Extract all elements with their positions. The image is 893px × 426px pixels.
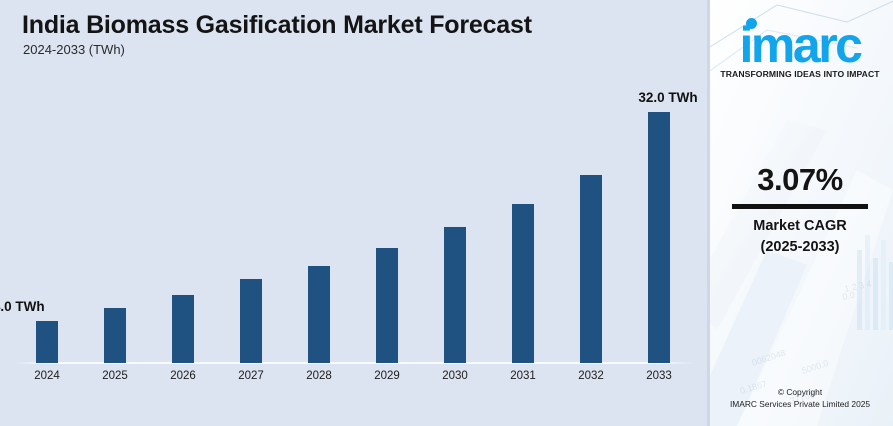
bar-2033[interactable] [648, 112, 670, 363]
x-tick-label-2026: 2026 [149, 370, 217, 382]
x-tick-label-2033: 2033 [625, 370, 693, 382]
bar-group: 2024 [13, 0, 81, 426]
x-tick-label-2028: 2028 [285, 370, 353, 382]
bar-2032[interactable] [580, 175, 602, 363]
bar-group: 2031 [489, 0, 557, 426]
x-tick-label-2029: 2029 [353, 370, 421, 382]
logo-text: imarc [740, 17, 861, 73]
bar-2025[interactable] [104, 308, 126, 363]
x-tick-label-2032: 2032 [557, 370, 625, 382]
bar-2026[interactable] [172, 295, 194, 363]
cagr-rule [732, 204, 868, 209]
bar-2027[interactable] [240, 279, 262, 363]
x-tick-label-2025: 2025 [81, 370, 149, 382]
bar-group: 2032 [557, 0, 625, 426]
bar-2024[interactable] [36, 321, 58, 363]
logo-dot-icon [746, 18, 757, 29]
cagr-period: (2025-2033) [707, 239, 893, 255]
x-tick-label-2027: 2027 [217, 370, 285, 382]
bar-2028[interactable] [308, 266, 330, 363]
logo-wordmark-text: imarc [740, 22, 861, 68]
x-tick-label-2024: 2024 [13, 370, 81, 382]
cagr-value: 3.07% [707, 162, 893, 198]
value-label-2024: 24.0 TWh [0, 299, 45, 314]
cagr-block: 3.07% Market CAGR (2025-2033) [707, 162, 893, 255]
bar-2029[interactable] [376, 248, 398, 363]
brand-panel: 1 2 3 4 5000.0 0062048 0.0 0.1867 37768 … [707, 0, 893, 426]
x-tick-label-2031: 2031 [489, 370, 557, 382]
chart-screenshot: India Biomass Gasification Market Foreca… [0, 0, 893, 426]
bar-group: 2025 [81, 0, 149, 426]
copyright-line-1: © Copyright [707, 386, 893, 398]
bar-group: 2028 [285, 0, 353, 426]
bar-group: 2027 [217, 0, 285, 426]
bar-group: 2029 [353, 0, 421, 426]
cagr-label: Market CAGR [707, 218, 893, 234]
bar-group: 2033 [625, 0, 693, 426]
bar-2031[interactable] [512, 204, 534, 363]
value-label-2033: 32.0 TWh [638, 90, 697, 105]
bar-2030[interactable] [444, 227, 466, 363]
bar-group: 2030 [421, 0, 489, 426]
copyright-line-2: IMARC Services Private Limited 2025 [707, 398, 893, 410]
imarc-logo[interactable]: imarc TRANSFORMING IDEAS INTO IMPACT [707, 22, 893, 79]
bar-group: 2026 [149, 0, 217, 426]
copyright-block: © Copyright IMARC Services Private Limit… [707, 386, 893, 410]
chart-panel: India Biomass Gasification Market Foreca… [0, 0, 707, 426]
bar-chart-plot: 2024202520262027202820292030203120322033… [0, 0, 707, 426]
x-tick-label-2030: 2030 [421, 370, 489, 382]
